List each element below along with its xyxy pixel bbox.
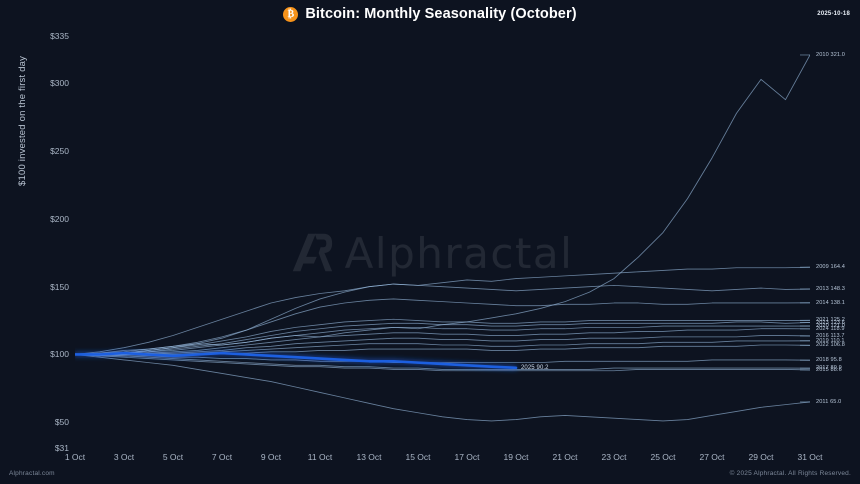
footer-site: Alphractal.com	[9, 470, 55, 477]
chart-screenshot: ₿ Bitcoin: Monthly Seasonality (October)…	[0, 0, 860, 484]
x-tick-label: 15 Oct	[405, 452, 430, 462]
x-tick-label: 1 Oct	[65, 452, 85, 462]
series-line-2024	[75, 329, 810, 355]
x-tick-label: 11 Oct	[308, 452, 332, 462]
series-end-label-2013: 2013 148.3	[816, 286, 845, 292]
series-line-2009	[75, 267, 810, 354]
series-end-label-2014: 2014 138.1	[816, 300, 845, 306]
y-tick-label: $100	[50, 349, 69, 359]
y-tick-label: $50	[55, 417, 69, 427]
y-tick-label: $200	[50, 214, 69, 224]
as-of-date: 2025-10-18	[817, 11, 850, 17]
series-line-2023	[75, 322, 810, 355]
x-tick-label: 27 Oct	[699, 452, 724, 462]
x-tick-label: 13 Oct	[356, 452, 381, 462]
y-axis-label: $100 invested on the first day	[17, 36, 28, 186]
footer-copyright: © 2025 Alphractal. All Rights Reserved.	[730, 470, 851, 477]
series-end-label-2009: 2009 164.4	[816, 264, 845, 270]
page-title: Bitcoin: Monthly Seasonality (October)	[305, 6, 576, 22]
x-tick-label: 17 Oct	[454, 452, 479, 462]
series-end-label-2011: 2011 65.0	[816, 399, 841, 405]
series-end-label-2018: 2018 95.8	[816, 357, 842, 363]
y-tick-label: $335	[50, 31, 69, 41]
x-tick-label: 3 Oct	[114, 452, 134, 462]
series-end-label-2015: 2015 88.6	[816, 367, 842, 373]
plot-area: $100 invested on the first day $335$300$…	[75, 36, 810, 448]
x-tick-label: 21 Oct	[552, 452, 577, 462]
series-end-label-2010: 2010 321.0	[816, 52, 845, 58]
x-tick-label: 7 Oct	[212, 452, 232, 462]
series-inline-label-2025: 2025 90.2	[521, 365, 549, 371]
bitcoin-icon: ₿	[283, 7, 298, 22]
x-tick-label: 5 Oct	[163, 452, 183, 462]
y-tick-label: $300	[50, 78, 69, 88]
x-tick-label: 23 Oct	[601, 452, 626, 462]
series-end-label-2024: 2024 118.9	[816, 326, 845, 332]
x-tick-label: 25 Oct	[650, 452, 675, 462]
x-tick-label: 9 Oct	[261, 452, 281, 462]
y-tick-label: $250	[50, 146, 69, 156]
chart-header: ₿ Bitcoin: Monthly Seasonality (October)…	[0, 0, 860, 30]
x-tick-label: 31 Oct	[797, 452, 822, 462]
x-tick-label: 29 Oct	[748, 452, 773, 462]
series-end-label-2022: 2022 106.8	[816, 342, 845, 348]
series-line-2010	[75, 55, 810, 355]
title-group: ₿ Bitcoin: Monthly Seasonality (October)	[0, 6, 860, 22]
x-tick-label: 19 Oct	[503, 452, 528, 462]
y-tick-label: $150	[50, 282, 69, 292]
series-lines	[75, 36, 810, 448]
